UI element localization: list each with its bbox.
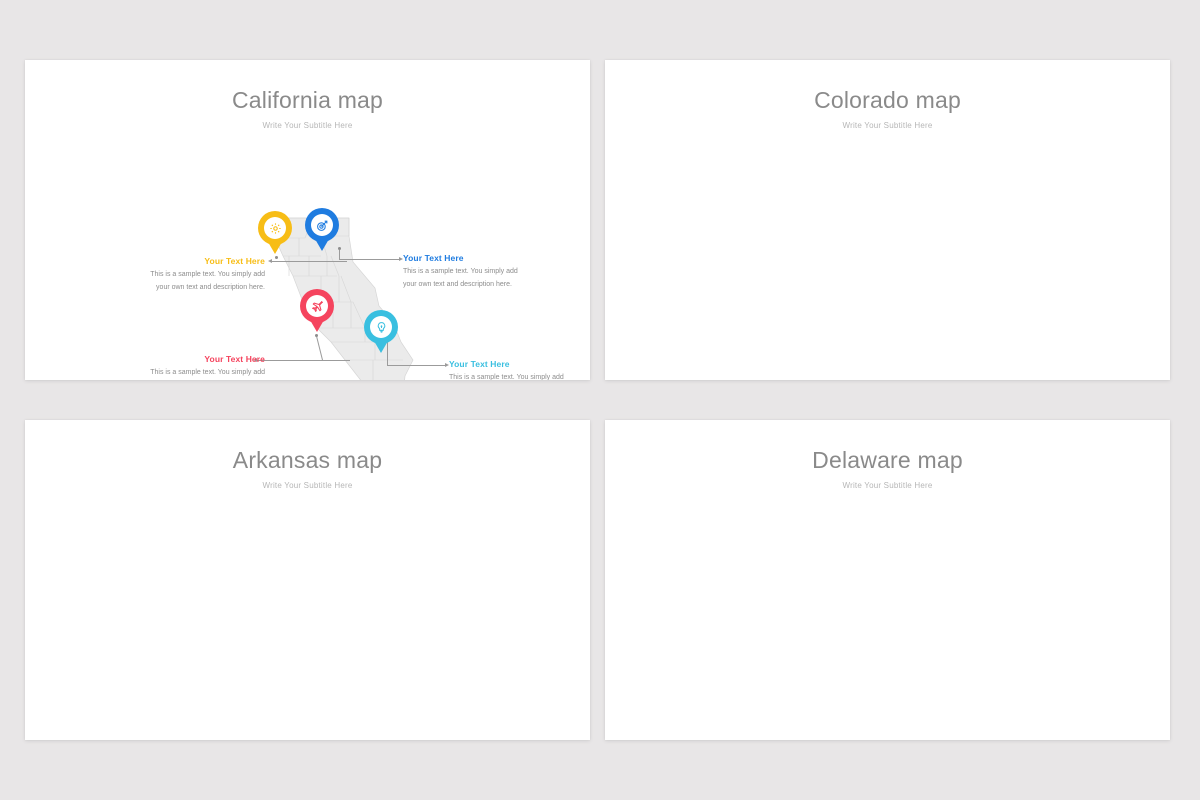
callout-heading: Your Text Here	[145, 256, 265, 266]
map-pin-lightbulb[interactable]	[364, 310, 398, 344]
target-icon	[316, 219, 329, 232]
connector-line	[339, 259, 401, 260]
gear-icon	[269, 222, 282, 235]
connector-line	[270, 261, 347, 262]
connector-dot	[275, 256, 278, 259]
connector-dot	[315, 334, 318, 337]
pin-disc	[306, 295, 328, 317]
callout-body: This is a sample text. You simply add yo…	[145, 269, 265, 295]
connector-line	[339, 250, 340, 260]
callout-heading: Your Text Here	[449, 359, 569, 369]
page-title: Delaware map	[605, 448, 1170, 473]
callout-heading: Your Text Here	[403, 253, 523, 263]
page-subtitle: Write Your Subtitle Here	[605, 481, 1170, 490]
callout-body: This is a sample text. You simply add yo…	[403, 266, 523, 292]
page-title: California map	[25, 88, 590, 113]
page-title: Arkansas map	[25, 448, 590, 473]
page-subtitle: Write Your Subtitle Here	[25, 481, 590, 490]
pin-disc	[370, 316, 392, 338]
page-title: Colorado map	[605, 88, 1170, 113]
callout-body: This is a sample text. You simply add yo…	[449, 372, 569, 380]
slide-colorado[interactable]: Colorado map Write Your Subtitle Here	[605, 60, 1170, 380]
callout-california-3: Your Text Here This is a sample text. Yo…	[145, 354, 265, 380]
lightbulb-icon	[375, 321, 388, 334]
slide-deck: California map Write Your Subtitle Here	[0, 0, 1200, 800]
page-subtitle: Write Your Subtitle Here	[605, 121, 1170, 130]
slide-delaware[interactable]: Delaware map Write Your Subtitle Here Yo…	[605, 420, 1170, 740]
connector-dot	[338, 247, 341, 250]
callout-heading: Your Text Here	[145, 354, 265, 364]
connector-line	[255, 360, 350, 361]
callout-california-1: Your Text Here This is a sample text. Yo…	[145, 256, 265, 295]
callout-california-4: Your Text Here This is a sample text. Yo…	[449, 359, 569, 380]
map-pin-gear[interactable]	[258, 211, 292, 245]
callout-california-2: Your Text Here This is a sample text. Yo…	[403, 253, 523, 292]
map-pin-airplane[interactable]	[300, 289, 334, 323]
arrow-icon	[268, 259, 272, 263]
slide-california[interactable]: California map Write Your Subtitle Here	[25, 60, 590, 380]
pin-disc	[311, 214, 333, 236]
connector-line	[387, 365, 447, 366]
pin-disc	[264, 217, 286, 239]
airplane-icon	[311, 300, 324, 313]
map-pin-target[interactable]	[305, 208, 339, 242]
slide-arkansas[interactable]: Arkansas map Write Your Subtitle Here	[25, 420, 590, 740]
page-subtitle: Write Your Subtitle Here	[25, 121, 590, 130]
callout-body: This is a sample text. You simply add yo…	[145, 367, 265, 380]
